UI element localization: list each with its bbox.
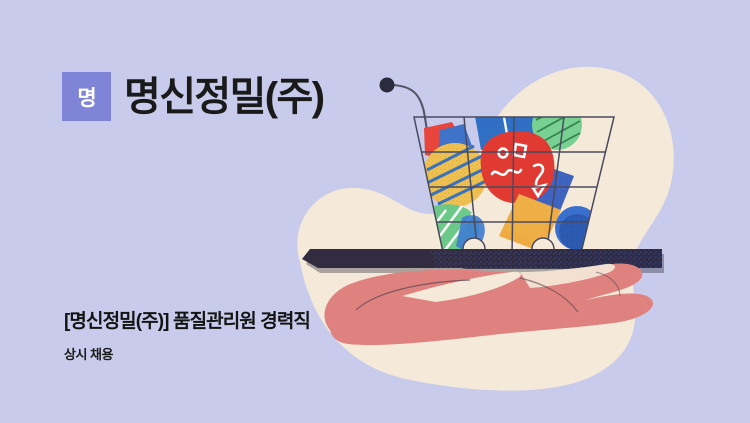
job-posting-banner: 명 명신정밀(주) [명신정밀(주)] 품질관리원 경력직 상시 채용 <box>0 0 750 423</box>
company-header: 명 명신정밀(주) <box>62 72 323 121</box>
recruitment-status: 상시 채용 <box>64 344 113 363</box>
job-title: [명신정밀(주)] 품질관리원 경력직 <box>64 306 310 333</box>
company-name: 명신정밀(주) <box>124 77 323 117</box>
company-logo-badge: 명 <box>62 72 111 121</box>
